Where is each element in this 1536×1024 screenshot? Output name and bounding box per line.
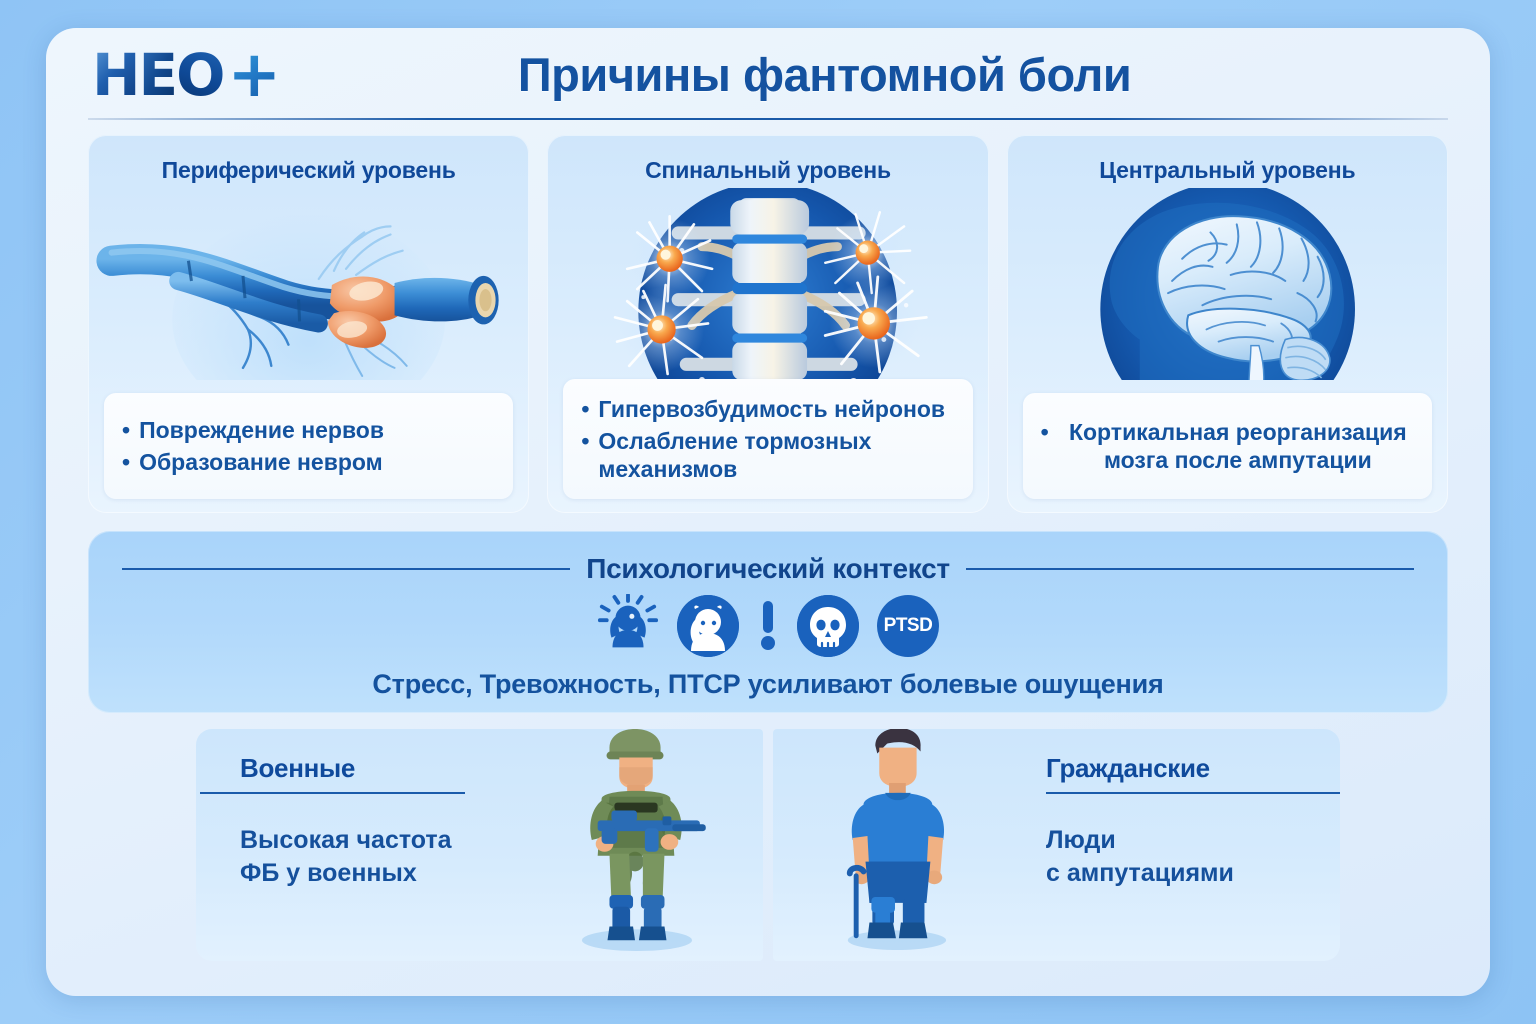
level-title-peripheral: Периферический уровень [88,135,529,184]
bullet-text: Кортикальная реорганизация мозга после а… [1058,418,1418,474]
divider-left [122,568,570,570]
spinal-cord-neurons-illustration [547,188,988,380]
level-title-central: Центральный уровень [1007,135,1448,184]
group-title-military: Военные [240,753,490,784]
anxiety-person-exclamation-icon [677,595,739,657]
peripheral-bullets: • Повреждение нервов • Образование невро… [104,393,513,499]
group-desc-civilian: Люди с ампутациями [1046,824,1296,889]
ptsd-badge-label: PTSD [884,615,933,637]
soldier-with-prosthetic-leg-illustration [551,729,721,957]
logo-letter-h: H [92,46,139,104]
psych-header: Психологический контекст [88,531,1448,585]
bullet-dot: • [122,416,130,444]
group-title-civilian: Гражданские [1046,753,1296,784]
spinal-art-zone [547,188,988,380]
damaged-nerve-neuroma-illustration [88,188,529,380]
civilian-text-block: Гражданские Люди с ампутациями [1046,753,1296,889]
exclamation-mark-icon [757,595,779,657]
group-desc-military: Высокая частота ФБ у военных [240,824,490,889]
military-text-block: Военные Высокая частота ФБ у военных [240,753,490,889]
list-item: • Образование невром [122,448,499,476]
infographic-panel: H E O + Причины фантомной боли Периферич… [46,28,1490,996]
list-item: • Ослабление тормозных механизмов [581,427,958,483]
group-card-civilian: Гражданские Люди с ампутациями [773,729,1340,961]
list-item: • Гипервозбудимость нейронов [581,395,958,423]
group-divider-military [200,792,465,794]
spinal-bullets: • Гипервозбудимость нейронов • Ослаблени… [563,379,972,499]
list-item: • Повреждение нервов [122,416,499,444]
stress-person-icon [597,595,659,657]
list-item: • Кортикальная реорганизация мозга после… [1041,418,1418,474]
header: H E O + Причины фантомной боли [46,28,1490,120]
logo-letter-e: E [139,46,177,104]
bullet-dot: • [1041,418,1049,446]
logo-plus-icon: + [227,43,279,107]
level-title-spinal: Спинальный уровень [547,135,988,184]
central-art-zone [1007,188,1448,380]
bullet-text: Ослабление тормозных механизмов [598,427,958,483]
central-bullets: • Кортикальная реорганизация мозга после… [1023,393,1432,499]
bullet-text: Гипервозбудимость нейронов [598,395,945,423]
psych-tagline: Стресс, Тревожность, ПТСР усиливают боле… [88,669,1448,700]
bullet-dot: • [581,427,589,455]
civilian-with-cane-and-prosthetic-leg-illustration [819,729,969,957]
bullet-dot: • [122,448,130,476]
psychological-context-panel: Психологический контекст [88,531,1448,713]
psych-icons-row: PTSD [88,595,1448,657]
groups-row: Военные Высокая частота ФБ у военных [196,729,1340,961]
bullet-text: Образование невром [139,448,383,476]
brain-head-silhouette-illustration [1007,188,1448,380]
levels-row: Периферический уровень [46,120,1490,513]
level-card-peripheral: Периферический уровень [88,135,529,513]
neo-plus-logo: H E O + [92,46,279,104]
page-title: Причины фантомной боли [279,47,1370,102]
group-card-military: Военные Высокая частота ФБ у военных [196,729,763,961]
logo-letter-o: O [176,46,223,104]
skull-icon [797,595,859,657]
ptsd-badge-icon: PTSD [877,595,939,657]
group-divider-civilian [1046,792,1340,794]
bullet-dot: • [581,395,589,423]
peripheral-art-zone [88,188,529,380]
level-card-spinal: Спинальный уровень [547,135,988,513]
level-card-central: Центральный уровень [1007,135,1448,513]
divider-right [966,568,1414,570]
bullet-text: Повреждение нервов [139,416,384,444]
psych-section-title: Психологический контекст [586,553,950,585]
